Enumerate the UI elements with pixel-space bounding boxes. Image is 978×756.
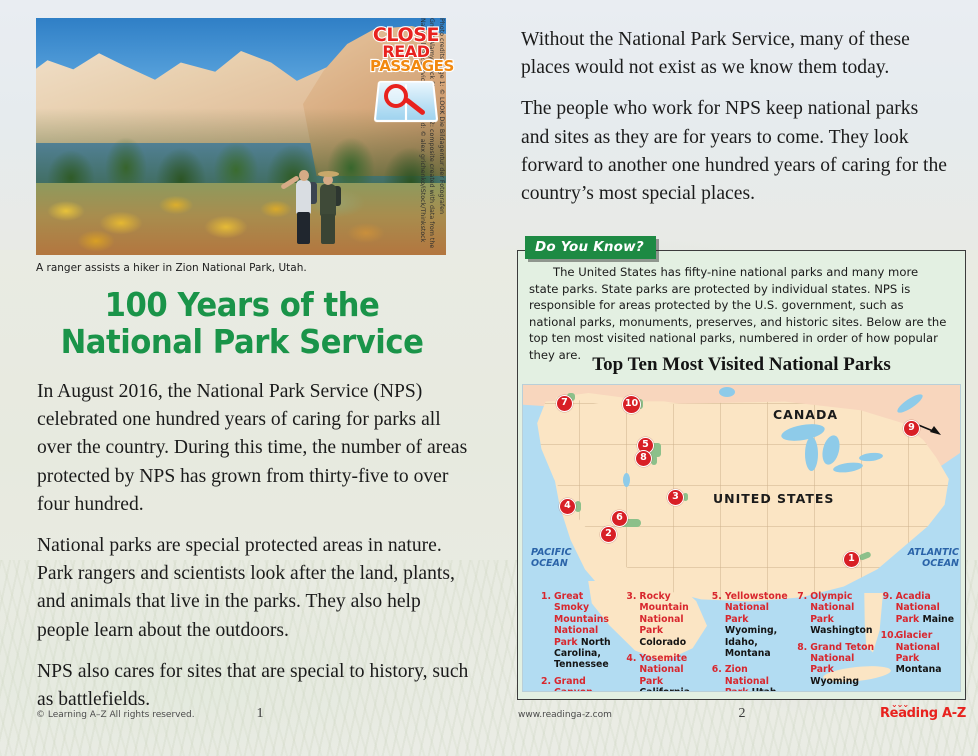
right-column-body: Without the National Park Service, many … [521, 26, 951, 221]
legend-item-number: 1. [539, 591, 554, 671]
map-marker-6: 6 [611, 510, 628, 527]
legend-column: 1.Great Smoky Mountains National Park No… [539, 591, 624, 692]
map-label-atlantic-ocean: ATLANTIC OCEAN [903, 547, 959, 569]
legend-item-body: Grand Teton National Park Wyoming [810, 642, 876, 688]
map-marker-1: 1 [843, 551, 860, 568]
legend-item: 7.Olympic National Park Washington [795, 591, 876, 637]
paragraph: National parks are special protected are… [37, 532, 475, 645]
legend-item-park-name: Grand Teton National Park [810, 642, 874, 676]
left-column-body: In August 2016, the National Park Servic… [37, 378, 475, 727]
legend-item-state: Wyoming [810, 676, 859, 687]
legend-item-park-name: Yosemite National Park [639, 653, 687, 687]
map-marker-10: 10 [622, 395, 641, 414]
map-label-united-states: UNITED STATES [713, 491, 834, 506]
legend-item: 8.Grand Teton National Park Wyoming [795, 642, 876, 688]
hiker-head [299, 170, 309, 181]
legend-item-park-name: Olympic National Park [810, 591, 854, 625]
footer-right: www.readinga-z.com 2 ⌄⌄⌄ Reading A-Z [518, 710, 966, 750]
map-title: Top Ten Most Visited National Parks [517, 354, 966, 376]
photo-wildflower-field [36, 183, 446, 255]
close-read-passages-badge: CLOSE READ PASSAGES [370, 26, 442, 126]
hiker-body [296, 180, 311, 214]
legend-item: 4.Yosemite National Park California [624, 653, 705, 692]
map-marker-4: 4 [559, 498, 576, 515]
paragraph: Without the National Park Service, many … [521, 26, 951, 82]
headline-line-2: National Park Service [50, 323, 433, 360]
legend-item-body: Glacier National Park Montana [896, 630, 961, 676]
sun-rays-icon: ⌄⌄⌄ [891, 700, 908, 709]
legend-item: 10.Glacier National Park Montana [881, 630, 961, 676]
legend-item-number: 6. [710, 664, 725, 692]
legend-item-body: Zion National Park Utah [725, 664, 791, 692]
atlantic-line-1: ATLANTIC [903, 547, 959, 558]
legend-item: 6.Zion National Park Utah [710, 664, 791, 692]
legend-item: 2.Grand Canyon National Park Arizona [539, 676, 620, 692]
lake-michigan [805, 437, 818, 471]
pacific-line-1: PACIFIC [531, 547, 572, 558]
hiker-legs [297, 212, 310, 244]
map-marker-7: 7 [556, 395, 573, 412]
legend-item-body: Great Smoky Mountains National Park Nort… [554, 591, 620, 671]
legend-column: 9.Acadia National Park Maine10.Glacier N… [881, 591, 961, 692]
magnifying-glass-icon [384, 84, 408, 108]
map-label-canada: CANADA [773, 407, 838, 422]
do-you-know-section: Do You Know? The United States has fifty… [512, 236, 966, 700]
legend-item-number: 9. [881, 591, 896, 625]
legend-item-number: 5. [710, 591, 725, 659]
legend-item-state: Colorado [639, 637, 686, 648]
reading-az-logo: ⌄⌄⌄ Reading A-Z [880, 706, 966, 721]
page-title: 100 Years of the National Park Service [50, 286, 433, 360]
atlantic-line-2: OCEAN [903, 558, 959, 569]
legend-item-state: Maine [922, 614, 954, 625]
legend-item: 5.Yellowstone National Park Wyoming, Ida… [710, 591, 791, 659]
legend-item-state: Montana [896, 664, 942, 675]
legend-item-state: Wyoming, Idaho, Montana [725, 625, 777, 659]
hero-photo: CLOSE READ PASSAGES [36, 18, 446, 255]
legend-item-body: Rocky Mountain National Park Colorado [639, 591, 705, 648]
legend-item: 1.Great Smoky Mountains National Park No… [539, 591, 620, 671]
legend-column: 5.Yellowstone National Park Wyoming, Ida… [710, 591, 795, 692]
legend-item-body: Grand Canyon National Park Arizona [554, 676, 620, 692]
photo-caption: A ranger assists a hiker in Zion Nationa… [36, 262, 446, 274]
legend-item-body: Yosemite National Park California [639, 653, 705, 692]
legend-item-number: 3. [624, 591, 639, 648]
legend-item-number: 7. [795, 591, 810, 637]
legend-item-body: Yellowstone National Park Wyoming, Idaho… [725, 591, 791, 659]
ranger-body [320, 184, 336, 216]
page-number: 1 [36, 706, 484, 722]
legend-item-body: Acadia National Park Maine [896, 591, 961, 625]
legend-item-state: Utah [752, 687, 777, 692]
legend-item-state: Washington [810, 625, 872, 636]
badge-line-3: PASSAGES [370, 59, 442, 74]
badge-text: CLOSE READ PASSAGES [370, 26, 442, 74]
legend-item-park-name: Rocky Mountain National Park [639, 591, 688, 636]
legend-item-number: 8. [795, 642, 810, 688]
paragraph: The people who work for NPS keep nationa… [521, 95, 951, 208]
ranger-legs [321, 214, 335, 244]
hudson-bay-inlet [719, 387, 735, 397]
map-marker-2: 2 [600, 526, 617, 543]
paragraph: In August 2016, the National Park Servic… [37, 378, 475, 519]
legend-item-park-name: Glacier National Park [896, 630, 940, 664]
ranger-hat [318, 171, 339, 177]
legend-column: 7.Olympic National Park Washington8.Gran… [795, 591, 880, 692]
legend-item-number: 10. [881, 630, 896, 676]
great-salt-lake [623, 473, 630, 487]
legend-item-number: 4. [624, 653, 639, 692]
do-you-know-body: The United States has fifty-nine nationa… [529, 264, 947, 364]
pacific-line-2: OCEAN [531, 558, 572, 569]
legend-item-park-name: Yellowstone National Park [725, 591, 788, 625]
document-page: CLOSE READ PASSAGES Photo credits: Page … [0, 0, 978, 756]
photo-hiker-and-ranger [284, 158, 354, 253]
legend-item: 3.Rocky Mountain National Park Colorado [624, 591, 705, 648]
map-label-pacific-ocean: PACIFIC OCEAN [531, 547, 572, 569]
legend-item-state: California [639, 687, 690, 692]
legend-item-number: 2. [539, 676, 554, 692]
map-marker-9: 9 [903, 420, 920, 437]
map-marker-3: 3 [667, 489, 684, 506]
legend-item-park-name: Grand Canyon National Park [554, 676, 598, 692]
us-national-parks-map: CANADA UNITED STATES PACIFIC OCEAN ATLAN… [522, 384, 961, 692]
legend-column: 3.Rocky Mountain National Park Colorado4… [624, 591, 709, 692]
headline-line-1: 100 Years of the [50, 286, 433, 323]
legend-item-body: Olympic National Park Washington [810, 591, 876, 637]
footer-left: © Learning A–Z All rights reserved. 1 [36, 710, 484, 750]
legend-item: 9.Acadia National Park Maine [881, 591, 961, 625]
map-marker-8: 8 [635, 450, 652, 467]
do-you-know-tab: Do You Know? [525, 236, 656, 259]
map-legend: 1.Great Smoky Mountains National Park No… [533, 583, 961, 692]
